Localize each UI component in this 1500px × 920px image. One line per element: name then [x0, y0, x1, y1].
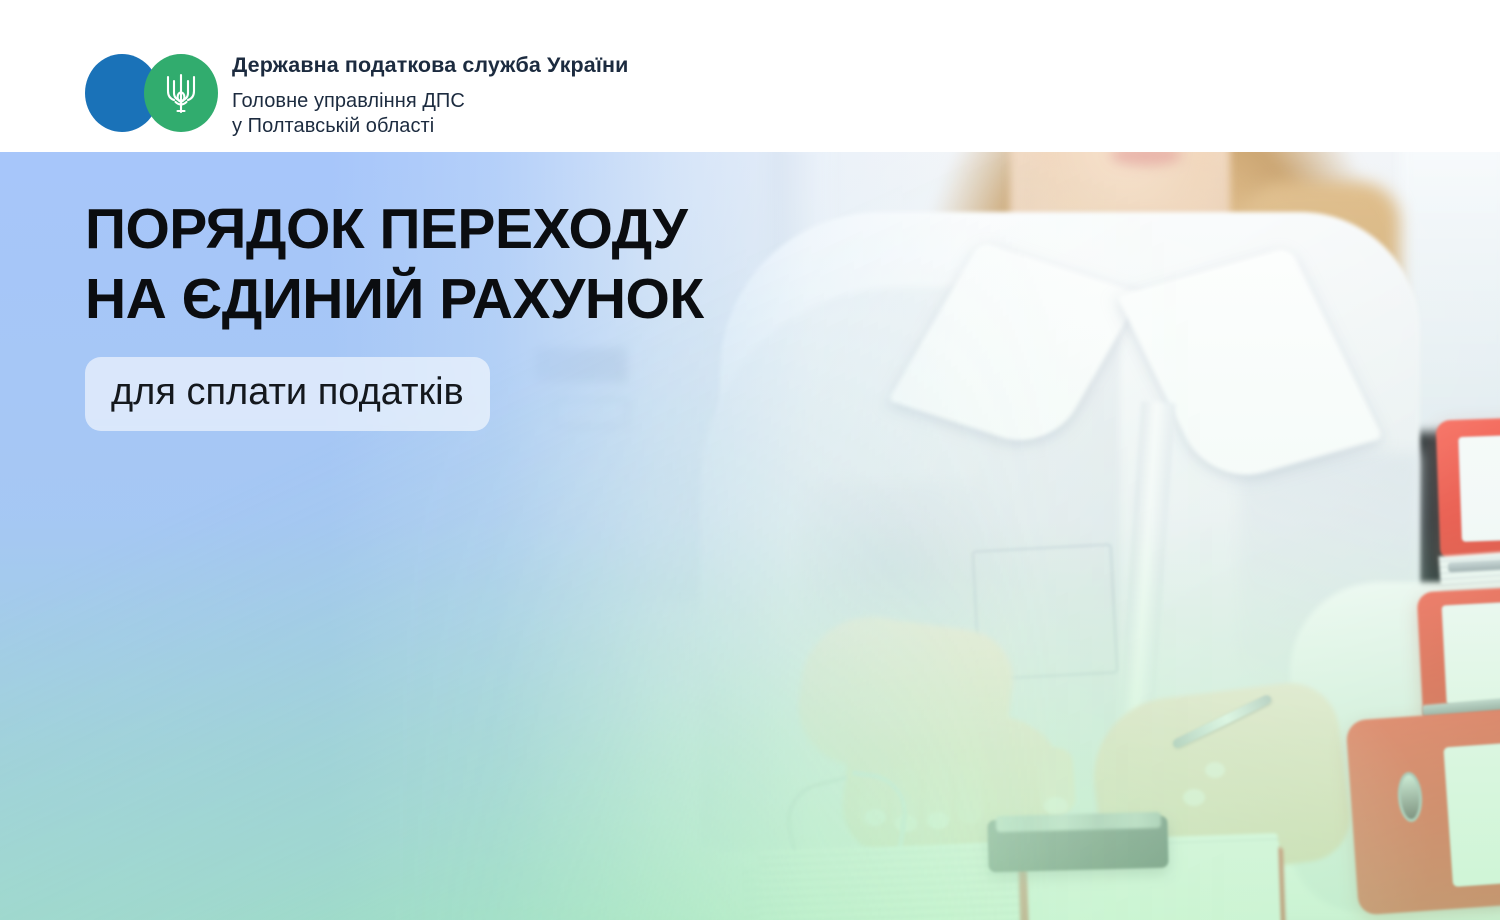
finger [956, 752, 983, 825]
fingernail [1044, 797, 1068, 815]
binder-label-middle [1441, 599, 1500, 706]
logo-marks [85, 52, 218, 134]
binder-label-bottom [1443, 737, 1500, 887]
fingernail [1183, 789, 1205, 806]
page-title: ПОРЯДОК ПЕРЕХОДУ НА ЄДИНИЙ РАХУНОК [85, 196, 825, 332]
org-name-line-3: у Полтавській області [232, 114, 628, 139]
organization-logo[interactable]: Державна податкова служба України Головн… [85, 52, 628, 139]
site-header: Державна податкова служба України Головн… [0, 0, 1500, 152]
headline-line-1: ПОРЯДОК ПЕРЕХОДУ [85, 196, 825, 262]
hero-text-block: ПОРЯДОК ПЕРЕХОДУ НА ЄДИНИЙ РАХУНОК для с… [85, 196, 825, 431]
org-name-line-2: Головне управління ДПС [232, 89, 628, 114]
org-name-line-1: Державна податкова служба України [232, 54, 628, 77]
subtitle-badge: для сплати податків [85, 357, 490, 431]
headline-line-2: НА ЄДИНИЙ РАХУНОК [85, 266, 825, 332]
banner-root: Державна податкова служба України Головн… [0, 0, 1500, 920]
fingernail [927, 812, 949, 829]
binder-label-top [1458, 433, 1500, 542]
fingernail [1205, 762, 1225, 778]
tryzub-icon [162, 71, 200, 116]
organization-name-block: Державна податкова служба України Головн… [232, 52, 628, 139]
